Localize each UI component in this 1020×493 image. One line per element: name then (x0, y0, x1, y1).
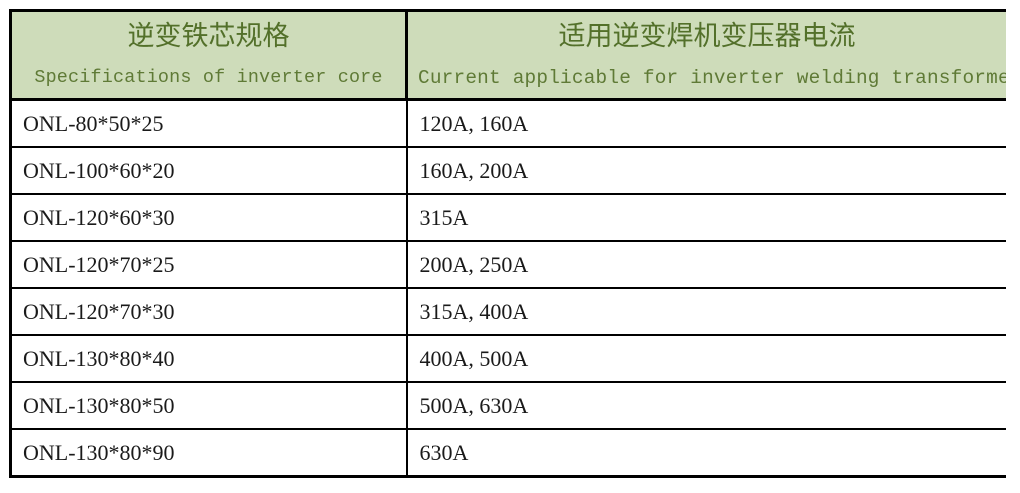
table-row: ONL-120*60*30315A (11, 194, 1007, 241)
table-row: ONL-100*60*20160A, 200A (11, 147, 1007, 194)
cell-specification: ONL-80*50*25 (11, 100, 407, 148)
cell-current: 400A, 500A (407, 335, 1007, 382)
cell-specification: ONL-120*70*30 (11, 288, 407, 335)
cell-current: 315A (407, 194, 1007, 241)
cell-current: 120A, 160A (407, 100, 1007, 148)
table-header-row: 逆变铁芯规格 Specifications of inverter core 适… (11, 11, 1007, 100)
cell-current: 630A (407, 429, 1007, 477)
table-header: 逆变铁芯规格 Specifications of inverter core 适… (11, 11, 1007, 100)
cell-specification: ONL-100*60*20 (11, 147, 407, 194)
table-row: ONL-130*80*90630A (11, 429, 1007, 477)
table-row: ONL-80*50*25120A, 160A (11, 100, 1007, 148)
cell-current: 315A, 400A (407, 288, 1007, 335)
column-header-current: 适用逆变焊机变压器电流 Current applicable for inver… (407, 11, 1007, 100)
table-row: ONL-130*80*40400A, 500A (11, 335, 1007, 382)
table-row: ONL-130*80*50500A, 630A (11, 382, 1007, 429)
cell-specification: ONL-120*60*30 (11, 194, 407, 241)
cell-current: 500A, 630A (407, 382, 1007, 429)
cell-specification: ONL-130*80*50 (11, 382, 407, 429)
table-row: ONL-120*70*30315A, 400A (11, 288, 1007, 335)
cell-current: 160A, 200A (407, 147, 1007, 194)
cell-specification: ONL-130*80*40 (11, 335, 407, 382)
column-header-specifications-cn: 逆变铁芯规格 (12, 13, 405, 59)
cell-current: 200A, 250A (407, 241, 1007, 288)
table-row: ONL-120*70*25200A, 250A (11, 241, 1007, 288)
cell-specification: ONL-130*80*90 (11, 429, 407, 477)
column-header-specifications-en: Specifications of inverter core (12, 59, 405, 97)
spec-table-container: 逆变铁芯规格 Specifications of inverter core 适… (9, 9, 1006, 479)
inverter-core-spec-table: 逆变铁芯规格 Specifications of inverter core 适… (9, 9, 1006, 478)
column-header-current-cn: 适用逆变焊机变压器电流 (408, 13, 1006, 59)
column-header-current-en: Current applicable for inverter welding … (408, 59, 1006, 97)
column-header-specifications: 逆变铁芯规格 Specifications of inverter core (11, 11, 407, 100)
cell-specification: ONL-120*70*25 (11, 241, 407, 288)
table-body: ONL-80*50*25120A, 160AONL-100*60*20160A,… (11, 100, 1007, 477)
